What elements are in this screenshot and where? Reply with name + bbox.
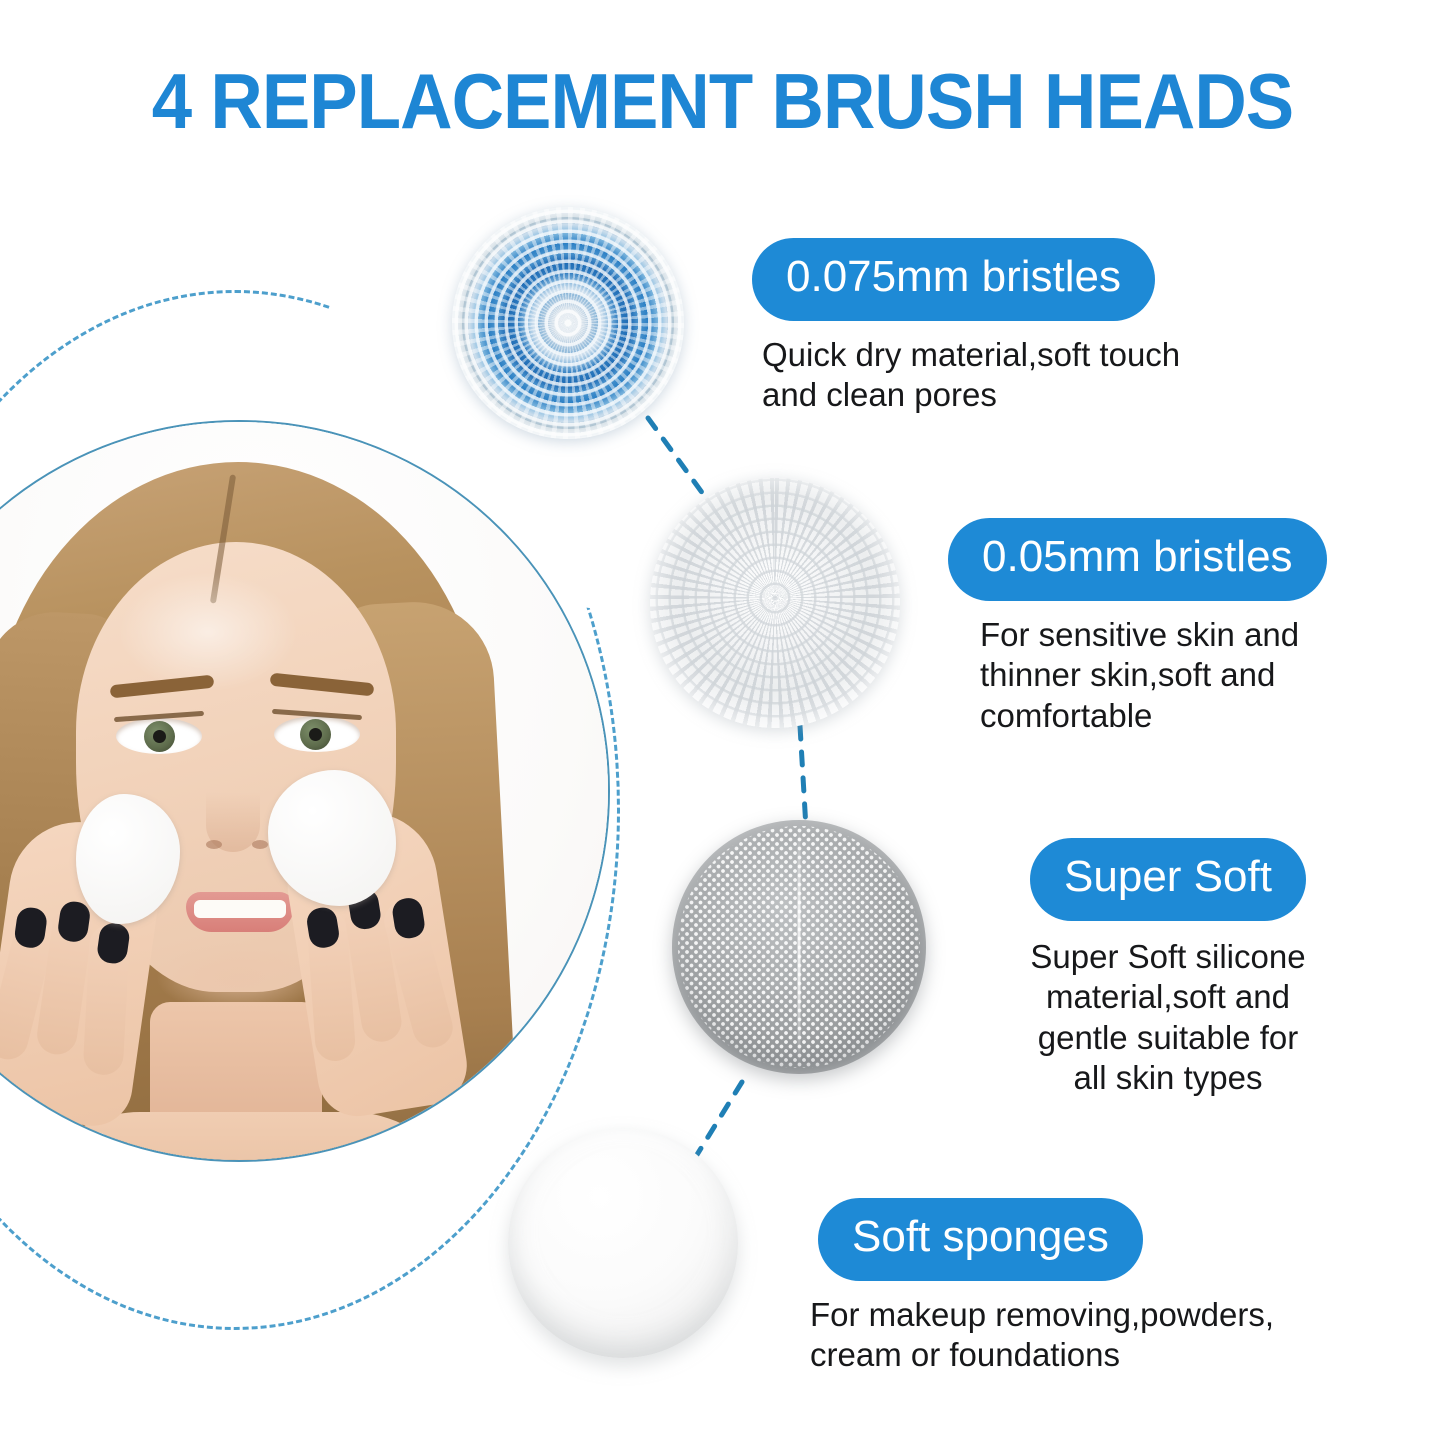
description-white-bristles: For sensitive skin and thinner skin,soft…	[980, 615, 1327, 736]
brush-rim	[650, 478, 900, 728]
teeth	[194, 900, 286, 918]
mouth	[186, 892, 294, 932]
sponge-rim	[508, 1128, 738, 1358]
connector-1-2	[648, 418, 706, 498]
brush-head-blue-bristles-icon[interactable]	[452, 207, 684, 439]
badge-soft-sponges[interactable]: Soft sponges	[818, 1198, 1143, 1281]
infographic-canvas: 4 REPLACEMENT BRUSH HEADS	[0, 0, 1445, 1445]
description-super-soft: Super Soft silicone material,soft and ge…	[988, 937, 1348, 1098]
badge-0075mm-bristles[interactable]: 0.075mm bristles	[752, 238, 1155, 321]
pupil-right	[309, 728, 322, 741]
callout-white-bristles: 0.05mm bristles For sensitive skin and t…	[948, 518, 1327, 736]
hero-photo-circle	[0, 420, 610, 1162]
callout-soft-sponges: Soft sponges For makeup removing,powders…	[818, 1198, 1274, 1376]
nostril-left	[206, 840, 222, 849]
brush-rim	[452, 207, 684, 439]
brush-head-soft-sponge-icon[interactable]	[508, 1128, 738, 1358]
description-soft-sponges: For makeup removing,powders, cream or fo…	[810, 1295, 1274, 1376]
connector-3-4	[690, 1082, 742, 1166]
pad-rim	[672, 820, 926, 1074]
pupil-left	[153, 730, 166, 743]
description-blue-bristles: Quick dry material,soft touch and clean …	[762, 335, 1180, 416]
badge-005mm-bristles[interactable]: 0.05mm bristles	[948, 518, 1327, 601]
nostril-right	[252, 840, 268, 849]
nose	[206, 752, 260, 852]
callout-super-soft: Super Soft Super Soft silicone material,…	[988, 838, 1348, 1098]
brush-head-silicone-pad-icon[interactable]	[672, 820, 926, 1074]
callout-blue-bristles: 0.075mm bristles Quick dry material,soft…	[752, 238, 1180, 416]
hero-photo	[0, 422, 608, 1160]
forehead-highlight	[118, 572, 298, 692]
page-title: 4 REPLACEMENT BRUSH HEADS	[51, 62, 1395, 140]
brush-head-white-bristles-icon[interactable]	[650, 478, 900, 728]
connector-2-3	[800, 726, 806, 828]
badge-super-soft[interactable]: Super Soft	[1030, 838, 1306, 921]
